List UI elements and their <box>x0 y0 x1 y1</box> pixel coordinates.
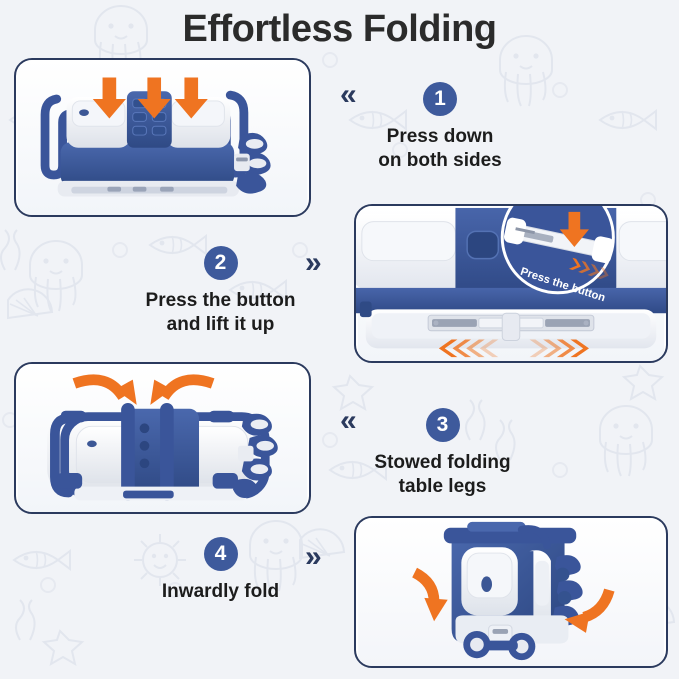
step-3: 3 Stowed folding table legs <box>340 408 545 499</box>
step-4-text: Inwardly fold <box>118 580 323 604</box>
step-1: 1 Press down on both sides <box>340 82 540 173</box>
panel-3-image <box>14 362 311 514</box>
step-1-text: Press down on both sides <box>340 125 540 173</box>
step-4-number: 4 <box>204 537 238 571</box>
panel-1-image <box>14 58 311 217</box>
step-3-text: Stowed folding table legs <box>340 451 545 499</box>
step-2-number: 2 <box>204 246 238 280</box>
panel-2-image: Press the button <box>354 204 668 363</box>
panel-4-image <box>354 516 668 668</box>
step-4: 4 Inwardly fold <box>118 537 323 604</box>
infographic-root: Effortless Folding <box>0 0 679 679</box>
step-2: 2 Press the button and lift it up <box>118 246 323 337</box>
orange-down-arrows <box>93 78 208 119</box>
step-1-number: 1 <box>423 82 457 116</box>
step-3-number: 3 <box>426 408 460 442</box>
step-2-text: Press the button and lift it up <box>118 289 323 337</box>
page-title: Effortless Folding <box>0 8 679 51</box>
